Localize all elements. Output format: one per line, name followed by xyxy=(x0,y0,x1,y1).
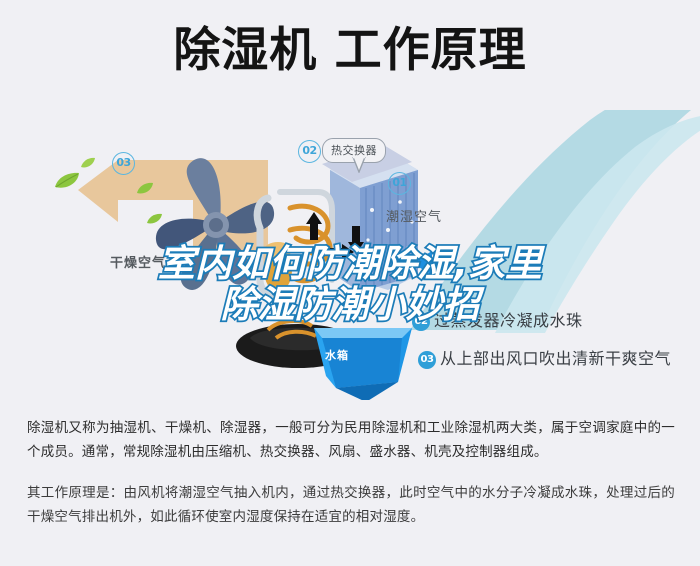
caption-text-03: 从上部出风口吹出清新干爽空气 xyxy=(440,349,671,368)
water-tank xyxy=(314,328,412,400)
leaf-icon xyxy=(54,172,80,194)
page-title-text: 除湿机 工作原理 xyxy=(173,22,526,80)
caption-text-02: 过蒸发器冷凝成水珠 xyxy=(434,311,583,330)
badge-01-humid-air: 01 xyxy=(388,172,411,195)
dehumidifier-article-page: 除湿机 工作原理 xyxy=(0,0,700,566)
badge-03-dry-air: 03 xyxy=(112,152,135,175)
water-tank-label: 水箱 xyxy=(325,347,349,363)
leaf-icon xyxy=(80,154,96,173)
humid-air-label: 潮湿空气 xyxy=(386,206,442,225)
caption-badge-03: 03 xyxy=(418,351,436,369)
dry-air-label: 干燥空气 xyxy=(110,252,166,271)
body-paragraph-1: 除湿机又称为抽湿机、干燥机、除湿器，一般可分为民用除湿机和工业除湿机两大类，属于… xyxy=(27,416,675,464)
page-title: 除湿机 工作原理 xyxy=(0,22,700,80)
body-paragraph-2: 其工作原理是：由风机将潮湿空气抽入机内，通过热交换器，此时空气中的水分子冷凝成水… xyxy=(27,481,675,529)
caption-step-02: 02过蒸发器冷凝成水珠 xyxy=(412,307,583,331)
badge-02-heat-exchanger: 02 xyxy=(298,140,321,163)
article-body: 除湿机又称为抽湿机、干燥机、除湿器，一般可分为民用除湿机和工业除湿机两大类，属于… xyxy=(27,416,675,529)
caption-badge-02: 02 xyxy=(412,313,430,331)
caption-step-03: 03从上部出风口吹出清新干爽空气 xyxy=(418,345,671,369)
callout-tail-icon xyxy=(352,157,366,173)
